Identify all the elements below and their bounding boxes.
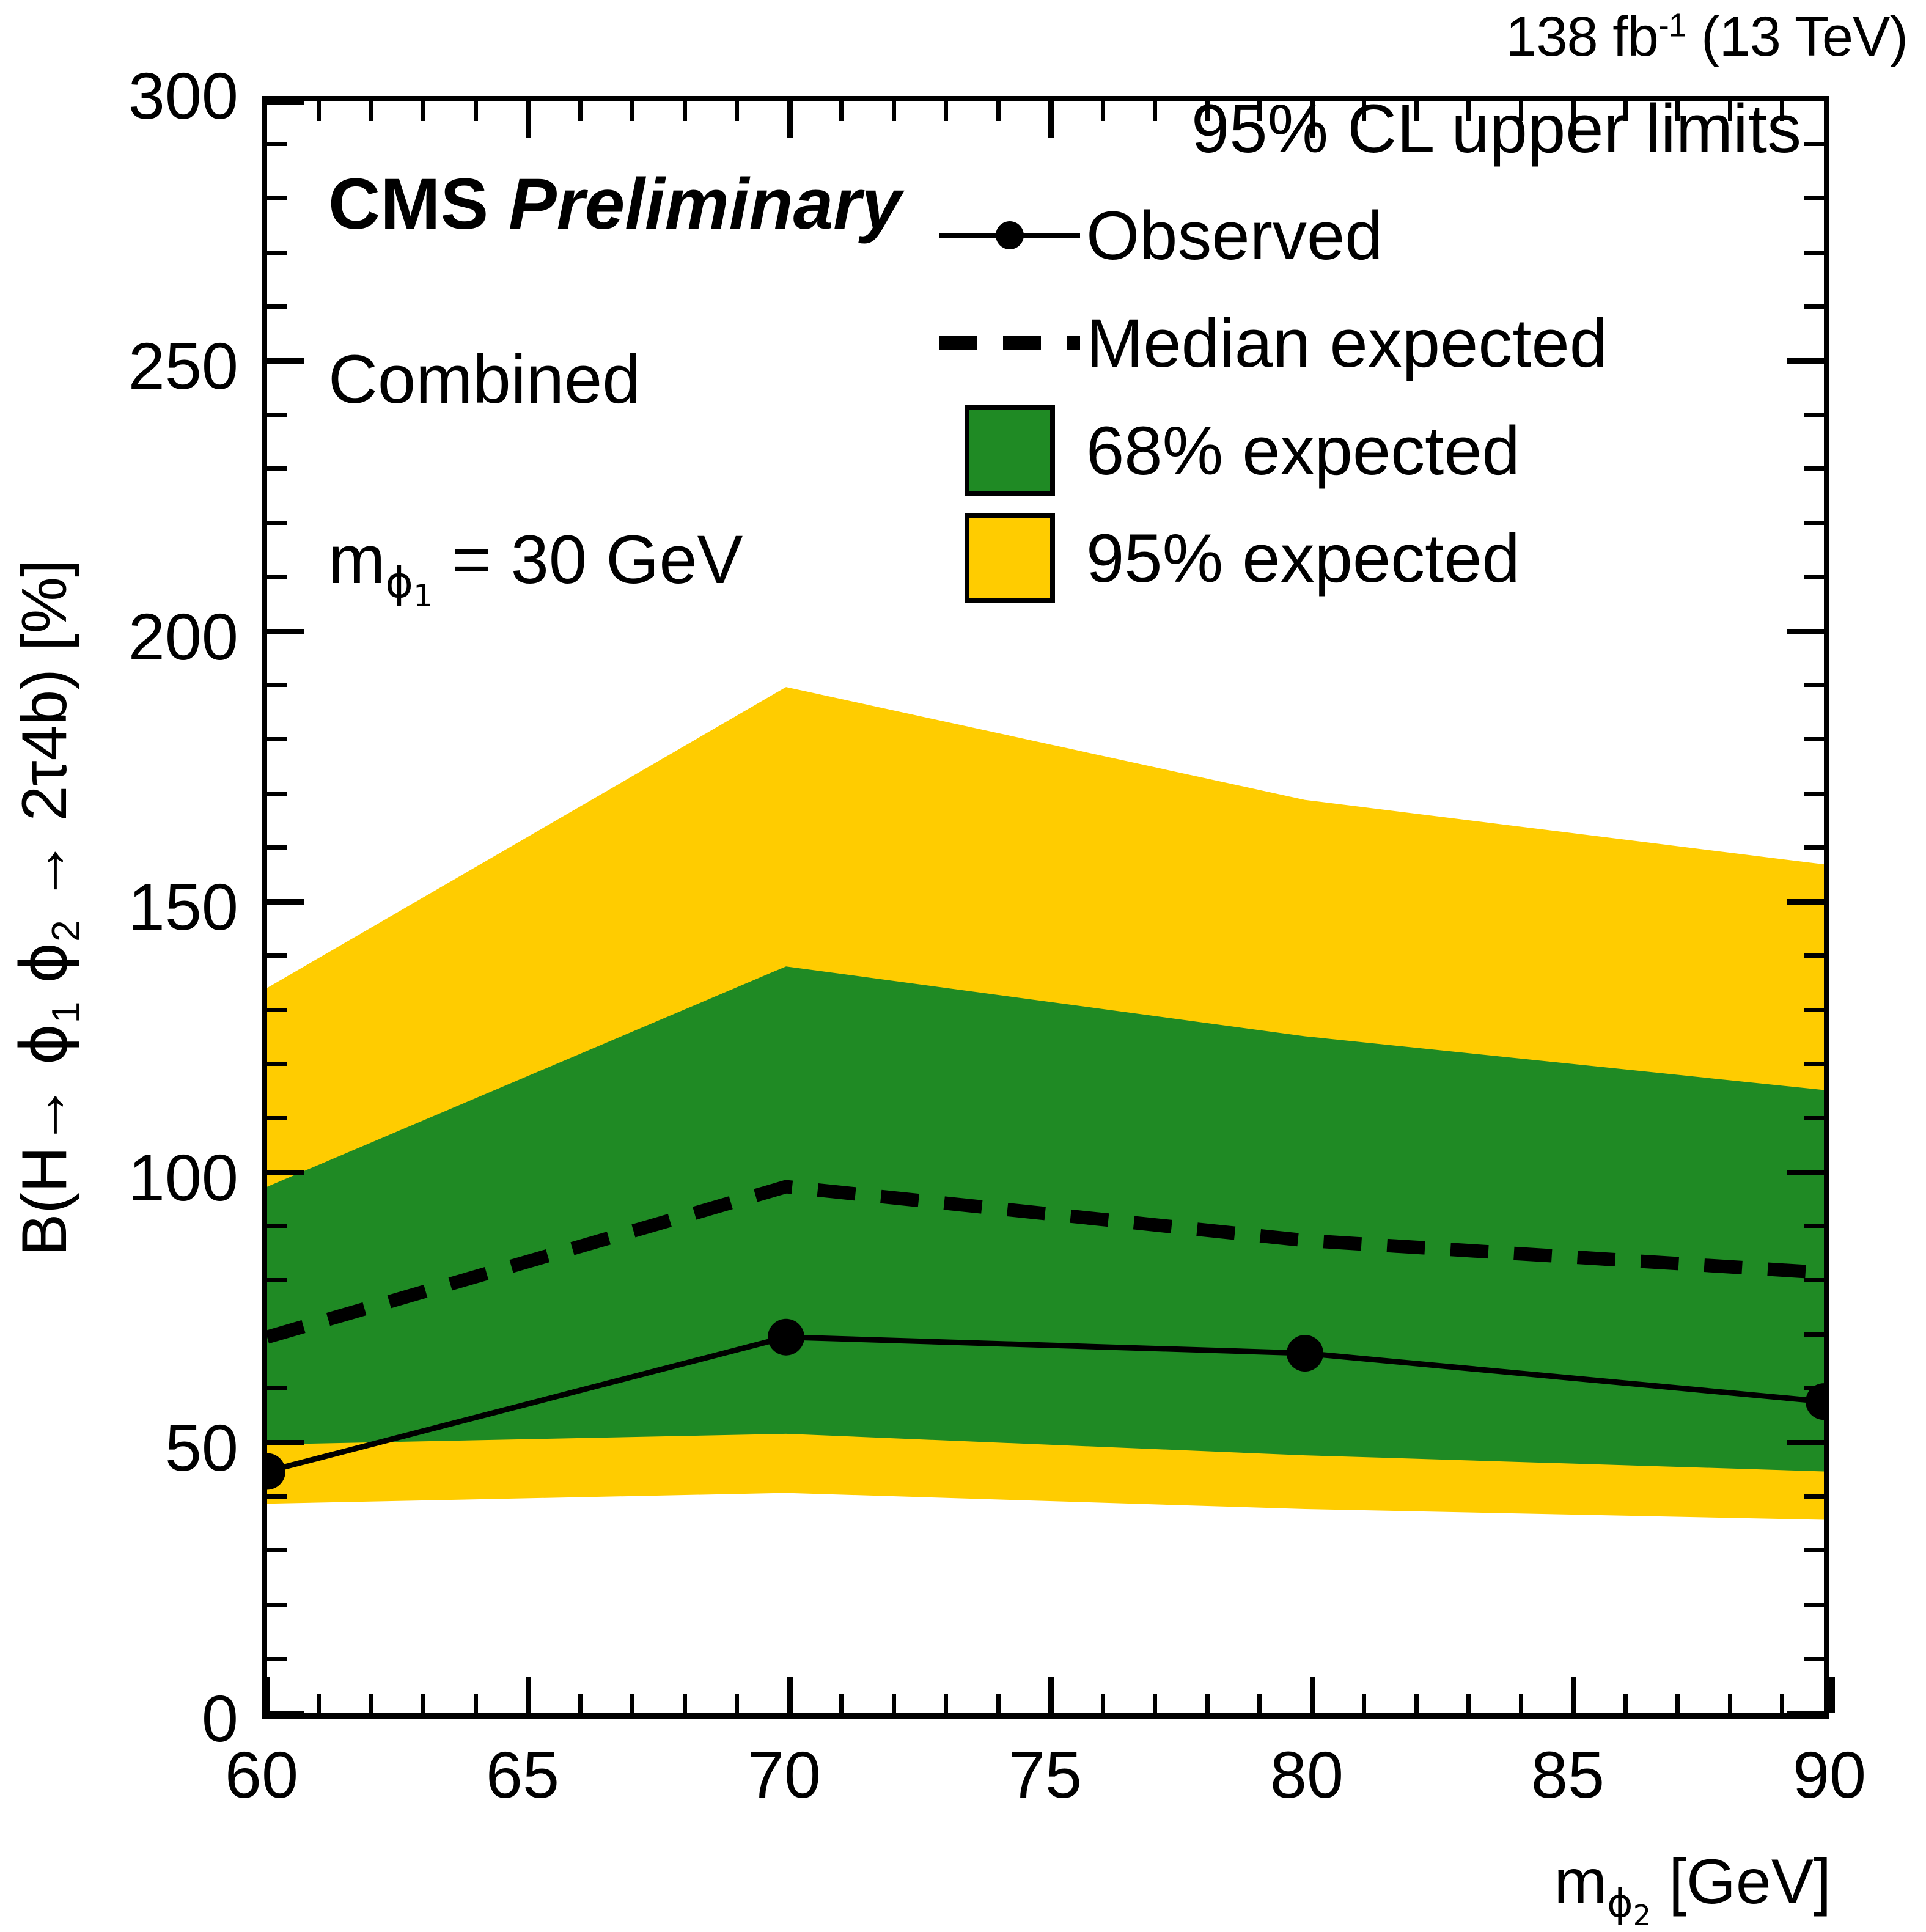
x-minor-tick-top <box>735 101 739 121</box>
observed-data-point <box>1287 1335 1323 1372</box>
legend-entry-95-expected[interactable]: 95% expected <box>933 504 1807 612</box>
legend-label-68-expected: 68% expected <box>1086 411 1520 490</box>
x-minor-tick <box>1519 1694 1523 1713</box>
y-tick-label: 50 <box>18 1415 238 1481</box>
y-minor-tick <box>267 1386 287 1390</box>
x-major-tick-top <box>526 101 531 138</box>
y-major-tick <box>267 1440 304 1445</box>
y-minor-tick <box>267 1278 287 1282</box>
y-tick-label: 150 <box>18 874 238 940</box>
y-minor-tick <box>267 792 287 796</box>
x-minor-tick <box>683 1694 687 1713</box>
x-minor-tick-top <box>369 101 373 121</box>
x-tick-label: 70 <box>748 1742 821 1808</box>
channel-label: Combined <box>328 340 641 419</box>
y-minor-tick-right <box>1804 1116 1824 1120</box>
y-minor-tick <box>267 196 287 200</box>
y-tick-label: 200 <box>18 604 238 670</box>
y-minor-tick <box>267 304 287 309</box>
y-minor-tick <box>267 575 287 579</box>
x-major-tick <box>1829 1677 1835 1713</box>
x-major-tick <box>1048 1677 1054 1713</box>
cms-text: CMS <box>328 164 488 244</box>
legend-label-95-expected: 95% expected <box>1086 519 1520 598</box>
y-minor-tick-right <box>1804 683 1824 687</box>
y-minor-tick <box>267 521 287 525</box>
x-minor-tick <box>630 1694 634 1713</box>
y-minor-tick-right <box>1804 1008 1824 1012</box>
x-major-tick <box>526 1677 531 1713</box>
x-minor-tick <box>1728 1694 1732 1713</box>
x-minor-tick-top <box>474 101 478 121</box>
legend-label-median-expected: Median expected <box>1086 304 1608 383</box>
x-minor-tick <box>1257 1694 1262 1713</box>
y-minor-tick-right <box>1804 1332 1824 1337</box>
y-minor-tick-right <box>1804 792 1824 796</box>
x-minor-tick <box>996 1694 1001 1713</box>
x-minor-tick <box>474 1694 478 1713</box>
y-minor-tick-right <box>1804 1224 1824 1228</box>
y-minor-tick <box>267 413 287 417</box>
y-minor-tick-right <box>1804 737 1824 741</box>
y-minor-tick-right <box>1804 1548 1824 1552</box>
x-minor-tick <box>1153 1694 1157 1713</box>
y-minor-tick <box>267 683 287 687</box>
y-major-tick-right <box>1787 629 1824 634</box>
plot-frame: CMS Preliminary Combined mϕ1 = 30 GeV 95… <box>262 96 1829 1719</box>
x-tick-label: 65 <box>486 1742 559 1808</box>
mass-value: = 30 GeV <box>433 521 743 598</box>
y-major-tick-right <box>1787 899 1824 905</box>
x-minor-tick-top <box>630 101 634 121</box>
x-minor-tick-top <box>683 101 687 121</box>
y-minor-tick <box>267 737 287 741</box>
y-minor-tick <box>267 1224 287 1228</box>
band-95-swatch <box>933 504 1086 612</box>
y-major-tick <box>267 358 304 364</box>
y-major-tick <box>267 99 304 105</box>
legend-title: 95% CL upper limits <box>933 89 1807 168</box>
x-tick-label: 85 <box>1531 1742 1604 1808</box>
median-dashed-swatch <box>933 289 1086 397</box>
x-minor-tick <box>1362 1694 1366 1713</box>
y-tick-label: 250 <box>18 333 238 399</box>
x-tick-label: 60 <box>225 1742 298 1808</box>
x-minor-tick <box>578 1694 583 1713</box>
x-major-tick <box>1310 1677 1315 1713</box>
mass-phi-index: 1 <box>413 578 433 614</box>
y-minor-tick-right <box>1804 1386 1824 1390</box>
legend-entry-observed[interactable]: Observed <box>933 182 1807 289</box>
y-minor-tick <box>267 251 287 255</box>
x-tick-label: 90 <box>1793 1742 1866 1808</box>
y-minor-tick <box>267 1603 287 1607</box>
x-minor-tick <box>944 1694 948 1713</box>
band-68-swatch <box>933 397 1086 504</box>
y-minor-tick-right <box>1804 1278 1824 1282</box>
y-major-tick <box>267 629 304 634</box>
y-minor-tick-right <box>1804 1062 1824 1066</box>
x-minor-tick <box>421 1694 425 1713</box>
x-minor-tick <box>1466 1694 1471 1713</box>
y-tick-label: 100 <box>18 1145 238 1211</box>
y-minor-tick-right <box>1804 1494 1824 1499</box>
observed-line-swatch <box>933 182 1086 289</box>
cms-label: CMS Preliminary <box>328 163 902 246</box>
y-minor-tick-right <box>1804 1603 1824 1607</box>
x-minor-tick-top <box>578 101 583 121</box>
y-minor-tick <box>267 845 287 850</box>
legend-entry-median-expected[interactable]: Median expected <box>933 289 1807 397</box>
y-minor-tick-right <box>1804 1657 1824 1661</box>
y-minor-tick <box>267 1657 287 1661</box>
x-minor-tick-top <box>839 101 844 121</box>
legend-label-observed: Observed <box>1086 196 1383 275</box>
mass-phi-subscript: ϕ1 <box>385 559 433 608</box>
y-tick-label: 0 <box>18 1686 238 1752</box>
x-minor-tick <box>1414 1694 1419 1713</box>
y-minor-tick <box>267 1116 287 1120</box>
y-major-tick-right <box>1787 1170 1824 1175</box>
x-minor-tick-top <box>892 101 896 121</box>
y-tick-label: 300 <box>18 63 238 129</box>
y-major-tick <box>267 1170 304 1175</box>
y-minor-tick <box>267 142 287 146</box>
x-minor-tick <box>735 1694 739 1713</box>
figure-canvas: 138 fb-1 (13 TeV) B(H→ ϕ1 ϕ2 → 2τ4b) [%]… <box>0 0 1926 1926</box>
mass-annotation: mϕ1 = 30 GeV <box>328 520 743 599</box>
y-major-tick-right <box>1787 1711 1824 1716</box>
x-minor-tick <box>1101 1694 1105 1713</box>
x-minor-tick <box>1780 1694 1784 1713</box>
x-minor-tick <box>1675 1694 1680 1713</box>
x-major-tick <box>265 1677 270 1713</box>
y-major-tick <box>267 1711 304 1716</box>
observed-data-point <box>768 1319 804 1356</box>
x-minor-tick <box>369 1694 373 1713</box>
x-minor-tick <box>317 1694 321 1713</box>
x-minor-tick <box>1623 1694 1628 1713</box>
mass-symbol: m <box>328 521 385 598</box>
x-major-tick <box>1571 1677 1576 1713</box>
y-major-tick <box>267 899 304 905</box>
x-minor-tick <box>839 1694 844 1713</box>
y-minor-tick-right <box>1804 845 1824 850</box>
y-minor-tick <box>267 466 287 471</box>
x-minor-tick <box>1205 1694 1210 1713</box>
x-tick-label: 80 <box>1270 1742 1343 1808</box>
legend-entry-68-expected[interactable]: 68% expected <box>933 397 1807 504</box>
y-minor-tick-right <box>1804 953 1824 958</box>
y-minor-tick <box>267 953 287 958</box>
x-tick-label: 75 <box>1009 1742 1082 1808</box>
observed-marker-icon <box>996 221 1024 249</box>
cms-status-text: Preliminary <box>509 164 902 244</box>
y-major-tick-right <box>1787 1440 1824 1445</box>
legend: 95% CL upper limits Observed Median expe… <box>933 89 1807 612</box>
y-minor-tick <box>267 1548 287 1552</box>
x-major-tick-top <box>787 101 793 138</box>
x-minor-tick-top <box>421 101 425 121</box>
y-minor-tick <box>267 1332 287 1337</box>
y-minor-tick <box>267 1494 287 1499</box>
x-major-tick <box>787 1677 793 1713</box>
x-minor-tick-top <box>317 101 321 121</box>
y-minor-tick <box>267 1008 287 1012</box>
y-minor-tick <box>267 1062 287 1066</box>
x-minor-tick <box>892 1694 896 1713</box>
